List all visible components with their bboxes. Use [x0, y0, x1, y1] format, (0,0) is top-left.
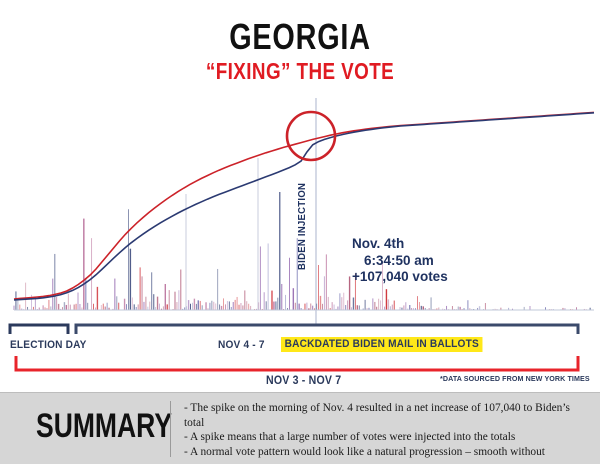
- callout-line-1: Nov. 4th: [352, 236, 448, 253]
- label-nov-4-7: NOV 4 - 7: [218, 339, 265, 351]
- page-subtitle: “FIXING” THE VOTE: [54, 58, 546, 84]
- summary-divider: [170, 401, 171, 457]
- callout-line-3: +107,040 votes: [352, 269, 448, 286]
- page-title: GEORGIA: [60, 18, 540, 56]
- nov-3-7-red-bracket: [16, 356, 578, 370]
- nov-4-7-bracket: [76, 325, 578, 334]
- label-nov-3-nov-7: NOV 3 - NOV 7: [266, 375, 341, 387]
- summary-panel: SUMMARY - The spike on the morning of No…: [0, 392, 600, 464]
- data-source-footnote: *DATA SOURCED FROM NEW YORK TIMES: [440, 374, 590, 383]
- label-backdated-ballots: BACKDATED BIDEN MAIL IN BALLOTS: [281, 337, 483, 352]
- summary-bullet: - The spike on the morning of Nov. 4 res…: [184, 401, 588, 430]
- summary-bullet: - A normal vote pattern would look like …: [184, 445, 588, 460]
- label-election-day: ELECTION DAY: [10, 339, 87, 351]
- election-day-bracket: [10, 325, 68, 334]
- callout-line-2: 6:34:50 am: [352, 253, 448, 270]
- vote-chart: Nov. 4th 6:34:50 am +107,040 votes BIDEN…: [0, 98, 600, 326]
- title-block: GEORGIA “FIXING” THE VOTE: [0, 18, 600, 84]
- injection-callout: Nov. 4th 6:34:50 am +107,040 votes: [352, 236, 448, 286]
- summary-title: SUMMARY: [36, 407, 172, 446]
- summary-body: - The spike on the morning of Nov. 4 res…: [184, 401, 588, 459]
- infographic-root: GEORGIA “FIXING” THE VOTE Nov. 4th 6:34:…: [0, 0, 600, 463]
- summary-bullet: - A spike means that a large number of v…: [184, 430, 588, 445]
- biden-injection-label: BIDEN INJECTION: [297, 183, 308, 270]
